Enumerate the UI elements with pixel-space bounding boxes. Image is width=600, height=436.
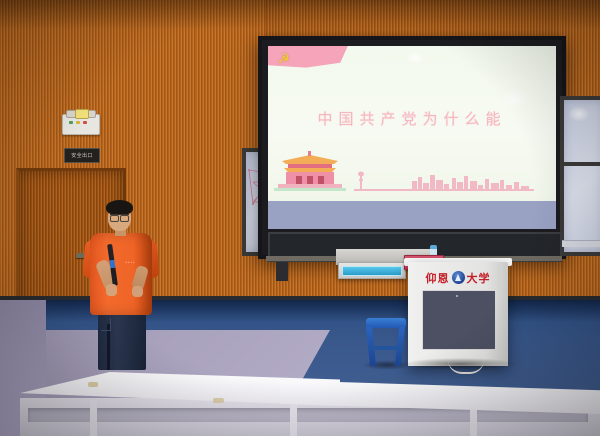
blue-plastic-stool[interactable] (366, 318, 406, 366)
board-frame-divider (564, 162, 600, 166)
presenter-hand-left (106, 284, 117, 296)
presenter-person: •••• (84, 198, 158, 370)
podium-university-name: 仰恩大学 (408, 270, 508, 286)
stool-cross-rail (370, 346, 403, 350)
screen-glare-highlight-2 (501, 89, 527, 109)
desk-divider-2 (290, 400, 297, 436)
indicator-red (83, 121, 87, 124)
university-crest-icon (452, 271, 465, 284)
desk-paper-scrap-2 (213, 398, 224, 403)
slide-bottom-bar (268, 201, 556, 229)
open-drawer[interactable] (338, 262, 406, 279)
exit-sign: 安全出口 (64, 148, 100, 163)
board-marker-tray (556, 240, 600, 247)
eyeglasses (110, 214, 129, 220)
board-glare (568, 106, 590, 122)
projection-screen: ☭ 中国共产党为什么能 (258, 36, 566, 259)
indicator-yellow (76, 121, 80, 124)
presenter-hand-right (132, 286, 143, 297)
presenter-hair (106, 200, 133, 215)
drawer-blue-tray (342, 266, 402, 276)
slide-pink-banner (268, 46, 458, 76)
lectern-podium[interactable]: 仰恩大学 (408, 262, 508, 366)
shirt-chest-logo: •••• (125, 260, 141, 265)
city-skyline-illustration (354, 169, 534, 191)
podium-name-right: 大学 (467, 272, 491, 285)
desk-paper-scrap-1 (88, 382, 98, 387)
panel-indicator-dot (456, 295, 458, 297)
hammer-and-sickle-emblem: ☭ (278, 52, 290, 65)
lecture-hall-photo: 安全出口 ☭ 中国共产党为什么能 (0, 0, 600, 436)
screen-glare-highlight (406, 52, 424, 64)
whiteboard-right[interactable] (560, 96, 600, 256)
presentation-slide: ☭ 中国共产党为什么能 (268, 46, 556, 201)
slide-title: 中国共产党为什么能 (268, 108, 556, 129)
indicator-green (69, 121, 73, 124)
emergency-light-lamp (75, 109, 89, 119)
emergency-light-fixture (62, 114, 100, 135)
tiananmen-gate-illustration (274, 149, 346, 191)
podium-control-panel[interactable] (422, 290, 496, 350)
pants-pocket (101, 318, 111, 331)
desk-divider-1 (90, 400, 97, 436)
podium-name-left: 仰恩 (426, 272, 450, 285)
ceiling-shadow (0, 0, 600, 30)
screen-surface: ☭ 中国共产党为什么能 (268, 46, 556, 229)
